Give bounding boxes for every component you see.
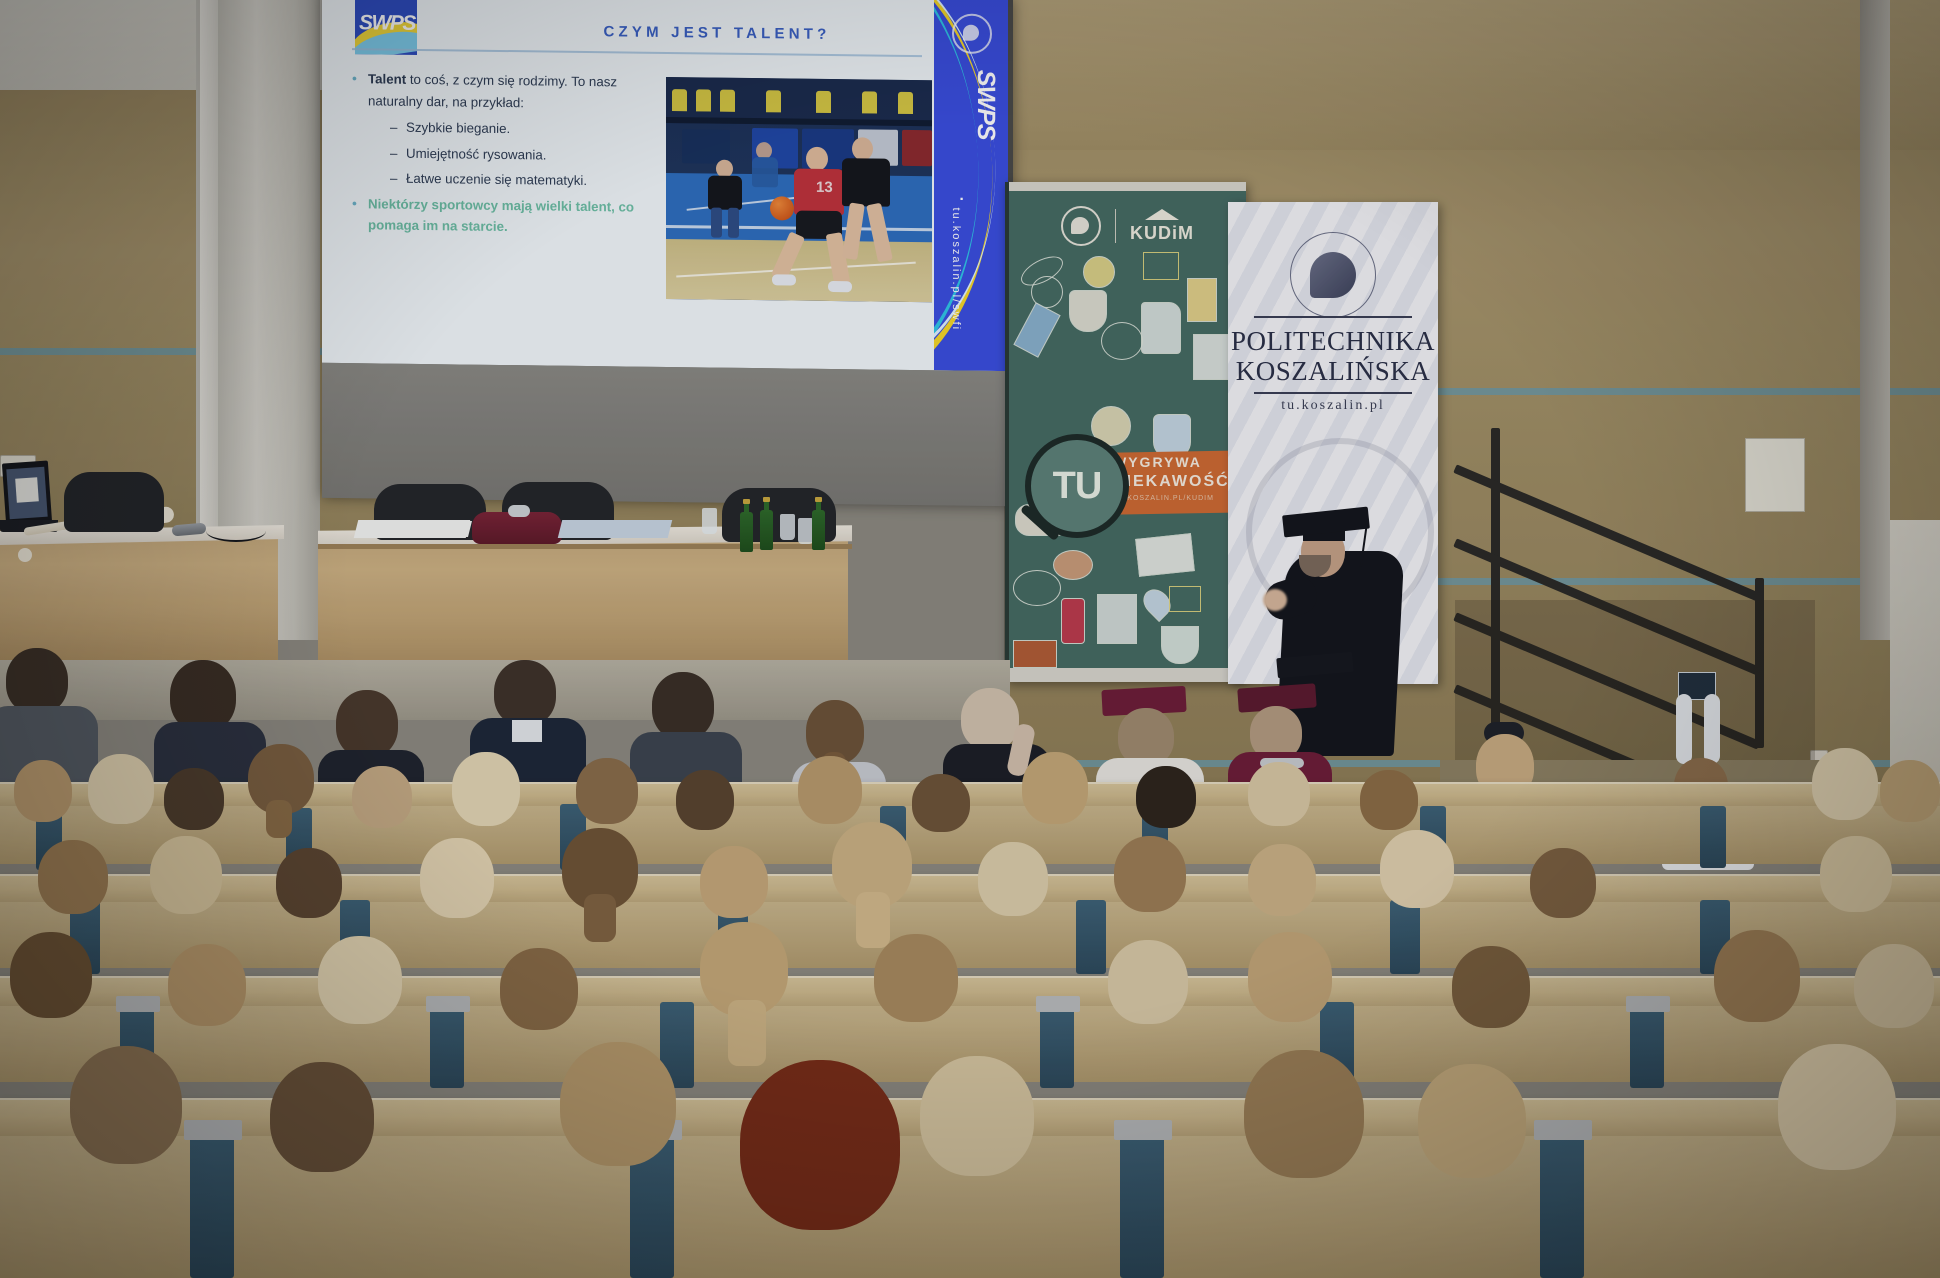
banner-rule-bottom — [1254, 392, 1412, 394]
bullet-lead: Talent — [368, 71, 406, 86]
water-bottle — [812, 510, 825, 550]
doodle-hourglass — [1187, 278, 1217, 322]
person-head — [10, 932, 92, 1018]
photo-advert-board — [902, 130, 932, 166]
banner-headline-line2: CIEKAWOŚĆ! — [1113, 473, 1237, 491]
slide-photo-basketball: 13 — [666, 77, 932, 302]
person-head — [1380, 830, 1454, 908]
seat-armrest — [1626, 996, 1670, 1012]
photo-basketball — [770, 196, 794, 220]
person-head — [1248, 762, 1310, 826]
person-head — [652, 672, 714, 740]
cushion-insignia — [508, 505, 530, 517]
stand-seat — [898, 92, 913, 114]
person-head — [576, 758, 638, 824]
person-head — [700, 846, 768, 918]
player-torso — [708, 175, 742, 209]
slide-title: CZYM JEST TALENT? — [482, 22, 952, 45]
seat-support — [430, 1002, 464, 1088]
dash-icon: – — [390, 168, 406, 190]
tu-magnifier-badge: TU — [1025, 434, 1129, 538]
seat-support — [1540, 1130, 1584, 1278]
person-head — [318, 936, 402, 1024]
person-head — [978, 842, 1048, 916]
player-leg — [711, 208, 722, 238]
seat-armrest — [1036, 996, 1080, 1012]
chair-left — [64, 472, 164, 532]
strip-seal-icon — [952, 13, 992, 53]
seat-support — [1076, 900, 1106, 974]
banner-top-bar — [1009, 182, 1246, 191]
person-head — [38, 840, 108, 914]
person-head — [1452, 946, 1530, 1028]
column-right-edge — [1860, 0, 1890, 640]
biret-cap-icon — [1282, 507, 1370, 538]
control-desk-left — [0, 536, 278, 666]
person-head — [1248, 844, 1316, 916]
person-head — [14, 760, 72, 822]
water-glass — [780, 514, 795, 540]
person-head — [912, 774, 970, 832]
doodle-flask-2 — [1161, 626, 1199, 664]
politechnika-seal-icon — [1290, 232, 1376, 318]
person-head — [1714, 930, 1800, 1022]
seat-support — [1120, 1130, 1164, 1278]
microphone-cable — [206, 520, 266, 542]
water-bottle — [760, 510, 773, 550]
seat-support — [1390, 900, 1420, 974]
player-shoe — [828, 281, 852, 292]
person-head — [1418, 1064, 1526, 1178]
person-head — [676, 770, 734, 830]
document-left-2 — [410, 521, 472, 537]
seat-armrest — [1534, 1120, 1592, 1140]
doodle-molecule-2 — [1013, 570, 1061, 606]
person-head — [1812, 748, 1878, 820]
doodle-paper — [1135, 533, 1195, 577]
sub-bullet-text: Szybkie bieganie. — [406, 117, 510, 140]
person-head — [276, 848, 342, 918]
person-head — [1880, 760, 1940, 822]
slide-arc-white — [934, 0, 1008, 371]
slide-sub-bullet: – Umiejętność rysowania. — [390, 142, 652, 167]
swps-logo: SWPS — [355, 0, 417, 55]
seat-support — [1040, 1002, 1074, 1088]
bullet-rest: to coś, z czym się rodzimy. To nasz natu… — [368, 72, 617, 110]
banner-subline: TU.KOSZALIN.PL/KUDIM — [1113, 495, 1214, 502]
person-head — [168, 944, 246, 1026]
person-head — [920, 1056, 1034, 1176]
person-head — [560, 1042, 676, 1166]
shirt-collar — [512, 720, 542, 742]
banner-kudim-brand: KUDiM — [1130, 223, 1194, 244]
person-head — [1820, 836, 1892, 912]
raised-arm — [1704, 694, 1720, 764]
person-head — [336, 690, 398, 758]
politechnika-seal-icon — [1061, 206, 1101, 246]
water-glass — [702, 508, 717, 534]
slide-highlight-bullet: • Niektórzy sportowcy mają wielki talent… — [352, 193, 652, 240]
slide-body: • Talent to coś, z czym się rodzimy. To … — [352, 68, 652, 244]
strip-url: tu.koszalin.pl/swfi — [950, 207, 962, 331]
dash-icon: – — [390, 142, 406, 164]
seat-support — [1700, 806, 1726, 868]
person-head — [164, 768, 224, 830]
banner-kudim: KUDiM — [1005, 182, 1246, 682]
ponytail — [728, 1000, 766, 1066]
slide-bullet: • Talent to coś, z czym się rodzimy. To … — [352, 68, 652, 115]
player-shoe — [772, 274, 796, 285]
lecture-hall-screenshot: SWPS CZYM JEST TALENT? • Talent to coś, … — [0, 0, 1940, 1278]
doodle-jar — [1097, 594, 1137, 644]
person-head — [1108, 940, 1188, 1024]
player-number: 13 — [816, 179, 833, 196]
person-head — [1360, 770, 1418, 830]
doodle-microscope — [1141, 302, 1181, 354]
ponytail — [856, 892, 890, 948]
seat-support — [190, 1130, 234, 1278]
banner-bottom-bar — [1009, 668, 1246, 682]
doodle-triangle — [1143, 252, 1179, 280]
stand-seat — [672, 89, 687, 111]
doodle-petri — [1053, 550, 1093, 580]
player-leg — [728, 208, 739, 238]
banner-name-line1: POLITECHNIKA — [1228, 326, 1438, 357]
banner-headline-line1: WYGRYWA — [1113, 454, 1202, 470]
person-head — [1244, 1050, 1364, 1178]
photo-advert-board — [682, 129, 730, 164]
laptop-display-content — [15, 477, 39, 502]
slide-title-rule — [352, 48, 922, 57]
tu-badge-text: TU — [1053, 465, 1102, 508]
person-head — [150, 836, 222, 914]
stand-seat — [696, 89, 711, 111]
sub-bullet-text: Umiejętność rysowania. — [406, 142, 546, 165]
wall-panel-upper-right — [1008, 0, 1940, 150]
stand-seat — [816, 91, 831, 113]
person-head — [270, 1062, 374, 1172]
dash-icon: – — [390, 117, 406, 139]
person-head — [1114, 836, 1186, 912]
seal-griffin-icon — [1310, 252, 1356, 298]
doodle-erlenmeyer — [1069, 290, 1107, 332]
slide-side-strip: SWPS ▪ tu.koszalin.pl/swfi — [934, 0, 1008, 371]
presidium-desk — [318, 540, 848, 675]
banner-kudim-header: KUDiM — [1009, 206, 1246, 246]
water-glass — [798, 518, 813, 544]
highlight-bullet-text: Niektórzy sportowcy mają wielki talent, … — [368, 193, 652, 240]
presenter-hand — [1263, 589, 1287, 611]
person-head — [452, 752, 520, 826]
banner-name-line2: KOSZALIŃSKA — [1228, 356, 1438, 387]
strip-bullet-icon: ▪ — [960, 194, 963, 204]
banner-rule-top — [1254, 316, 1412, 318]
sub-bullet-text: Łatwe uczenie się matematyki. — [406, 168, 587, 192]
bullet-dot-icon: • — [352, 68, 368, 111]
person-head — [420, 838, 494, 918]
banner-url: tu.koszalin.pl — [1228, 398, 1438, 414]
doodle-triangle-2 — [1169, 586, 1201, 612]
doodle-burner — [1061, 598, 1085, 644]
player-torso — [752, 157, 778, 187]
ponytail — [584, 894, 616, 942]
seat-armrest — [1114, 1120, 1172, 1140]
swps-logo-text: SWPS — [359, 11, 415, 36]
player-head — [806, 147, 828, 171]
stand-seat — [766, 90, 781, 112]
person-head — [500, 948, 578, 1030]
person-head — [798, 756, 862, 824]
blue-folder — [558, 520, 672, 538]
raised-arm — [1676, 694, 1692, 764]
doodle-beaker — [1013, 302, 1060, 358]
projection-screen: SWPS CZYM JEST TALENT? • Talent to coś, … — [322, 0, 1013, 506]
player-torso — [842, 158, 890, 207]
graduation-cap-icon — [1145, 209, 1179, 221]
person-head — [1854, 944, 1934, 1028]
ponytail — [266, 800, 292, 838]
banner-divider — [1115, 209, 1116, 243]
seat-armrest — [426, 996, 470, 1012]
person-head — [6, 648, 68, 714]
person-head — [961, 688, 1019, 750]
person-head — [494, 660, 556, 726]
person-head — [70, 1046, 182, 1164]
strip-swps-logo: SWPS — [942, 69, 1000, 139]
stand-seat — [720, 90, 735, 112]
person-head — [1248, 932, 1332, 1022]
mace-tip — [18, 548, 32, 562]
slide-sub-bullet: – Łatwe uczenie się matematyki. — [390, 168, 652, 193]
presentation-slide: SWPS CZYM JEST TALENT? • Talent to coś, … — [322, 0, 1008, 371]
person-head — [88, 754, 154, 824]
seat-support — [1630, 1002, 1664, 1088]
doodle-radiation — [1083, 256, 1115, 288]
slide-sub-bullet: – Szybkie bieganie. — [390, 117, 652, 142]
player-head — [852, 137, 873, 160]
doodle-book-2 — [1013, 640, 1057, 668]
person-head — [1136, 766, 1196, 828]
person-head — [740, 1060, 900, 1230]
person-head — [1778, 1044, 1896, 1170]
person-head — [874, 934, 958, 1022]
person-head — [1022, 752, 1088, 824]
bullet-dot-icon: • — [352, 193, 368, 236]
seat-armrest — [116, 996, 160, 1012]
person-head — [1530, 848, 1596, 918]
seat-armrest — [184, 1120, 242, 1140]
person-head — [352, 766, 412, 828]
doodle-molecule — [1101, 322, 1143, 360]
water-bottle — [740, 512, 753, 552]
stand-seat — [862, 91, 877, 113]
